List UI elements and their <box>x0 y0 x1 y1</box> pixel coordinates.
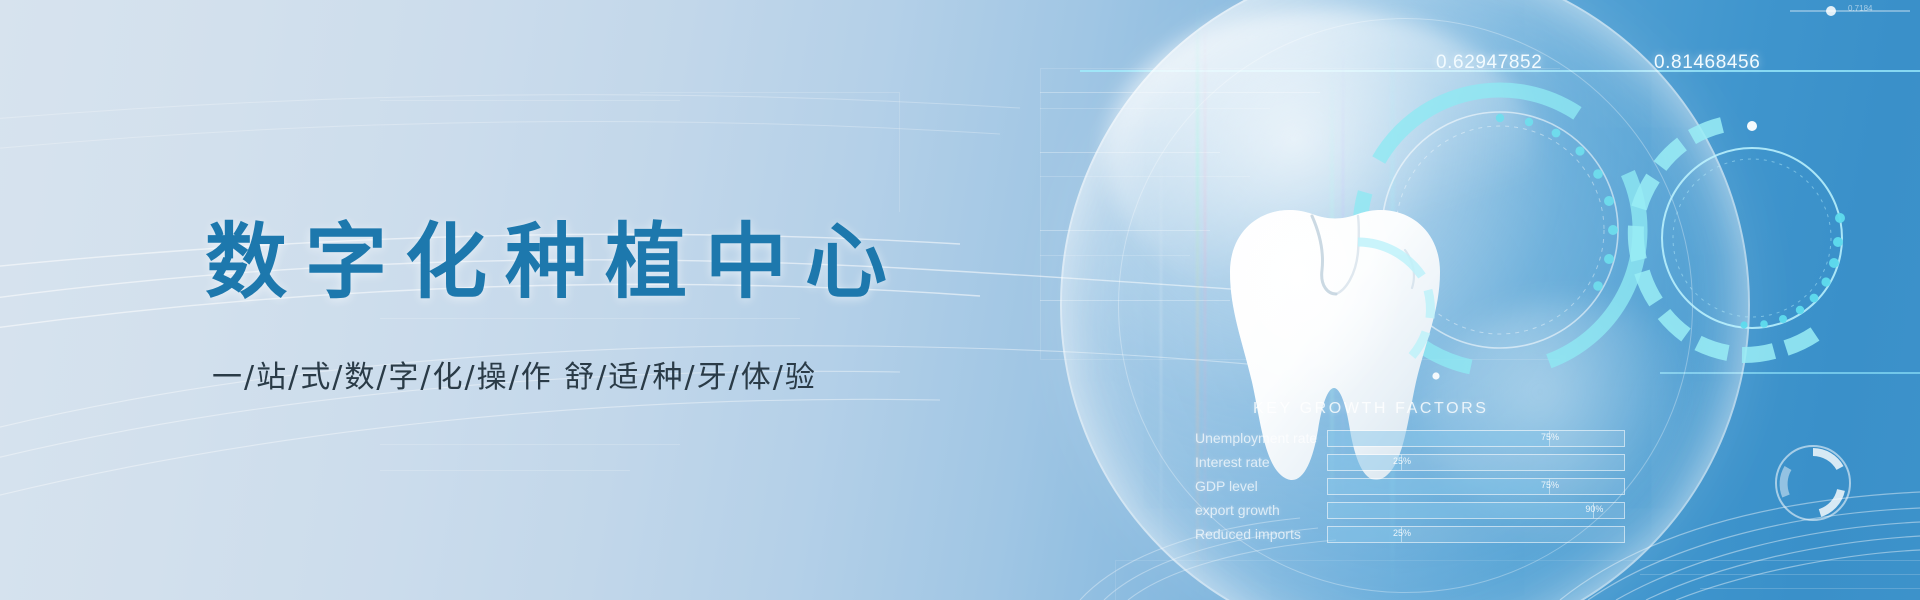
kgf-label: Unemployment rate <box>1195 430 1327 446</box>
page-subtitle: 一/站/式/数/字/化/操/作 舒/适/种/牙/体/验 <box>212 352 817 396</box>
tech-rule <box>1640 560 1920 561</box>
kgf-percent: 75% <box>1541 432 1559 442</box>
tech-rule <box>380 318 800 319</box>
progress-ring-icon <box>1770 440 1856 526</box>
kgf-bar-fill <box>1328 431 1550 446</box>
kgf-bar: 75% <box>1327 430 1625 447</box>
kgf-bar: 25% <box>1327 526 1625 543</box>
tech-rule <box>380 100 680 101</box>
light-streak <box>1160 0 1162 600</box>
dental-hero-banner: 0.62947852 <box>0 0 1920 600</box>
hud-ring-right <box>1592 78 1912 398</box>
kgf-row: Interest rate 25% <box>1195 452 1625 472</box>
hud-readout-right: 0.81468456 <box>1654 52 1760 74</box>
kgf-label: Reduced imports <box>1195 526 1327 542</box>
kgf-bar: 90% <box>1327 502 1625 519</box>
kgf-bar: 75% <box>1327 478 1625 495</box>
kgf-percent: 90% <box>1585 504 1603 514</box>
kgf-label: Interest rate <box>1195 454 1327 470</box>
tech-rule <box>1700 588 1920 589</box>
mini-slider-value: 0.7184 <box>1848 4 1872 13</box>
kgf-percent: 75% <box>1541 480 1559 490</box>
tech-rule <box>380 444 680 445</box>
kgf-row: export growth 90% <box>1195 500 1625 520</box>
mini-slider-knob[interactable] <box>1826 6 1836 16</box>
frame-bracket <box>640 92 900 212</box>
key-growth-factors-panel: KEY GROWTH FACTORS Unemployment rate 75%… <box>1195 400 1625 548</box>
kgf-bar: 25% <box>1327 454 1625 471</box>
kgf-percent: 25% <box>1393 528 1411 538</box>
hud-readout-left: 0.62947852 <box>1436 52 1542 74</box>
mini-slider[interactable]: 0.7184 <box>1790 6 1910 16</box>
kgf-row: GDP level 75% <box>1195 476 1625 496</box>
kgf-label: export growth <box>1195 502 1327 518</box>
tech-rule <box>380 470 630 471</box>
tech-rule <box>1640 574 1920 575</box>
panel-title: KEY GROWTH FACTORS <box>1253 400 1625 418</box>
kgf-bar-fill <box>1328 527 1402 542</box>
kgf-label: GDP level <box>1195 478 1327 494</box>
kgf-bar-fill <box>1328 455 1402 470</box>
kgf-percent: 25% <box>1393 456 1411 466</box>
kgf-row: Unemployment rate 75% <box>1195 428 1625 448</box>
kgf-bar-fill <box>1328 503 1594 518</box>
kgf-bar-fill <box>1328 479 1550 494</box>
kgf-row: Reduced imports 25% <box>1195 524 1625 544</box>
page-title: 数字化种植中心 <box>205 222 905 304</box>
